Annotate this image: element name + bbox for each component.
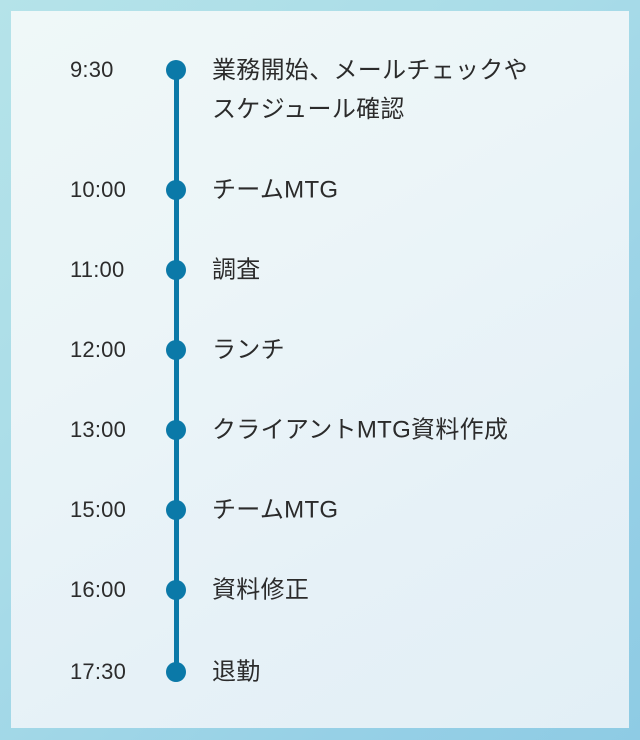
timeline-item-label-line: 業務開始、メールチェックや — [212, 51, 615, 90]
timeline-dot-icon — [166, 260, 186, 280]
timeline-item-label-line: 退勤 — [212, 653, 615, 692]
timeline-item-label: ランチ — [212, 331, 615, 370]
timeline-item-label: 業務開始、メールチェックやスケジュール確認 — [212, 51, 615, 129]
timeline-item-label-line: 調査 — [212, 251, 615, 290]
timeline-item-time: 9:30 — [70, 57, 166, 83]
timeline-item-time: 11:00 — [70, 257, 166, 283]
timeline-item-label: チームMTG — [212, 491, 615, 530]
timeline-item-time: 15:00 — [70, 497, 166, 523]
timeline-dot-icon — [166, 180, 186, 200]
timeline-item-label: 資料修正 — [212, 571, 615, 610]
timeline-item-time: 12:00 — [70, 337, 166, 363]
timeline-dot-icon — [166, 580, 186, 600]
timeline-item-time: 16:00 — [70, 577, 166, 603]
timeline-item-time: 10:00 — [70, 177, 166, 203]
timeline-dot-icon — [166, 662, 186, 682]
timeline-item-label: 退勤 — [212, 653, 615, 692]
timeline-item-label: 調査 — [212, 251, 615, 290]
timeline-item-time: 17:30 — [70, 659, 166, 685]
timeline-item-label-line: チームMTG — [212, 171, 615, 210]
timeline-item-label: チームMTG — [212, 171, 615, 210]
timeline-dot-icon — [166, 420, 186, 440]
timeline-item-label: クライアントMTG資料作成 — [212, 411, 615, 450]
timeline-item-time: 13:00 — [70, 417, 166, 443]
timeline-dot-icon — [166, 340, 186, 360]
timeline-item-label-line: スケジュール確認 — [212, 90, 615, 129]
timeline-panel: 9:30業務開始、メールチェックやスケジュール確認10:00チームMTG11:0… — [11, 11, 629, 728]
timeline-card: 9:30業務開始、メールチェックやスケジュール確認10:00チームMTG11:0… — [0, 0, 640, 740]
timeline-dot-icon — [166, 500, 186, 520]
timeline-item-label-line: ランチ — [212, 331, 615, 370]
timeline-item-label-line: 資料修正 — [212, 571, 615, 610]
timeline-item-label-line: チームMTG — [212, 491, 615, 530]
timeline-item-label-line: クライアントMTG資料作成 — [212, 411, 615, 450]
timeline-dot-icon — [166, 60, 186, 80]
